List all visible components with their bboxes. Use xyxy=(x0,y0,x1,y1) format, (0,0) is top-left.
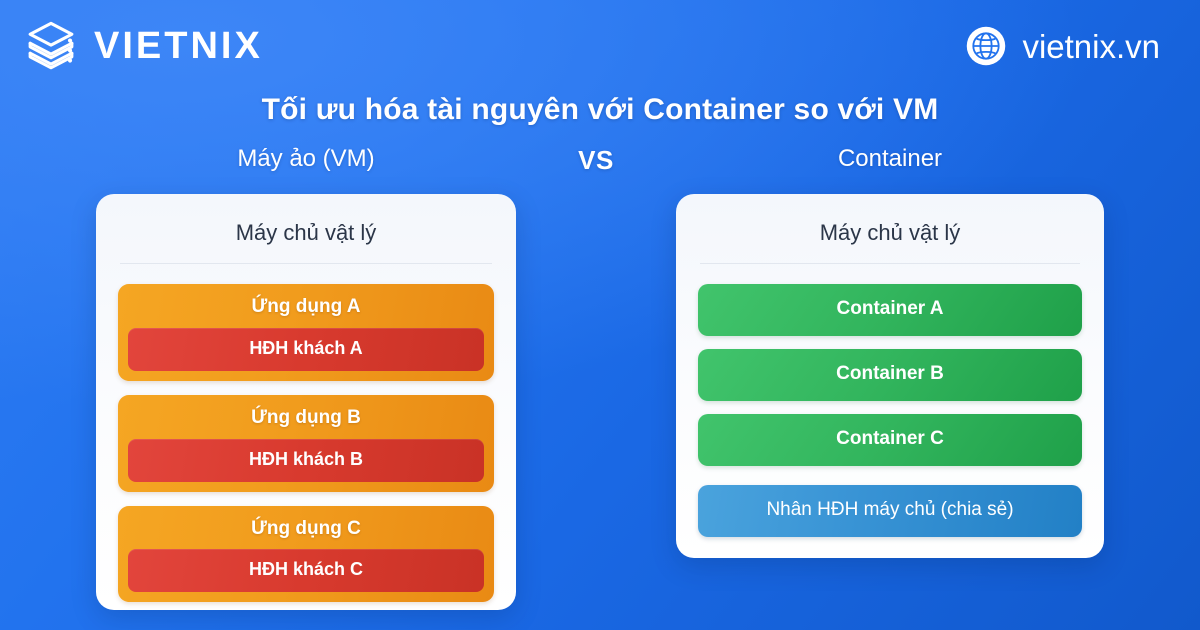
brand-name: VIETNIX xyxy=(94,27,263,65)
vm-guest-os-label: HĐH khách C xyxy=(128,549,484,592)
vm-guest-os-label: HĐH khách A xyxy=(128,328,484,371)
shared-host-kernel-bar: Nhân HĐH máy chủ (chia sẻ) xyxy=(698,485,1082,537)
vm-card-divider xyxy=(120,263,492,264)
container-card-heading: Máy chủ vật lý xyxy=(698,194,1082,263)
vm-card-heading: Máy chủ vật lý xyxy=(118,194,494,263)
versus-label: VS xyxy=(516,145,676,176)
page-title: Tối ưu hóa tài nguyên với Container so v… xyxy=(0,93,1200,127)
infographic-poster: VIETNIX vietnix.vn Tối ưu hóa tài nguyên… xyxy=(0,0,1200,630)
vm-app-label: Ứng dụng C xyxy=(128,516,484,550)
comparison-subtitle-row: Máy ảo (VM) VS Container xyxy=(0,145,1200,177)
vm-block: Ứng dụng C HĐH khách C xyxy=(118,506,494,603)
container-bar: Container A xyxy=(698,284,1082,336)
subtitle-container: Container xyxy=(676,145,1104,173)
site-url-text: vietnix.vn xyxy=(1022,30,1160,63)
header-bar: VIETNIX vietnix.vn xyxy=(0,0,1200,92)
vm-app-label: Ứng dụng A xyxy=(128,294,484,328)
site-url-group: vietnix.vn xyxy=(965,25,1160,67)
container-card-divider xyxy=(700,263,1080,264)
subtitle-vm: Máy ảo (VM) xyxy=(96,145,516,173)
brand-logo: VIETNIX xyxy=(22,17,263,75)
vm-block: Ứng dụng A HĐH khách A xyxy=(118,284,494,381)
container-bar: Container C xyxy=(698,414,1082,466)
vm-card: Máy chủ vật lý Ứng dụng A HĐH khách A Ứn… xyxy=(96,194,516,610)
container-card: Máy chủ vật lý Container A Container B C… xyxy=(676,194,1104,558)
vm-guest-os-label: HĐH khách B xyxy=(128,439,484,482)
vm-block: Ứng dụng B HĐH khách B xyxy=(118,395,494,492)
container-bar: Container B xyxy=(698,349,1082,401)
vm-app-label: Ứng dụng B xyxy=(128,405,484,439)
globe-icon xyxy=(965,25,1007,67)
stacked-layers-icon xyxy=(22,17,80,75)
